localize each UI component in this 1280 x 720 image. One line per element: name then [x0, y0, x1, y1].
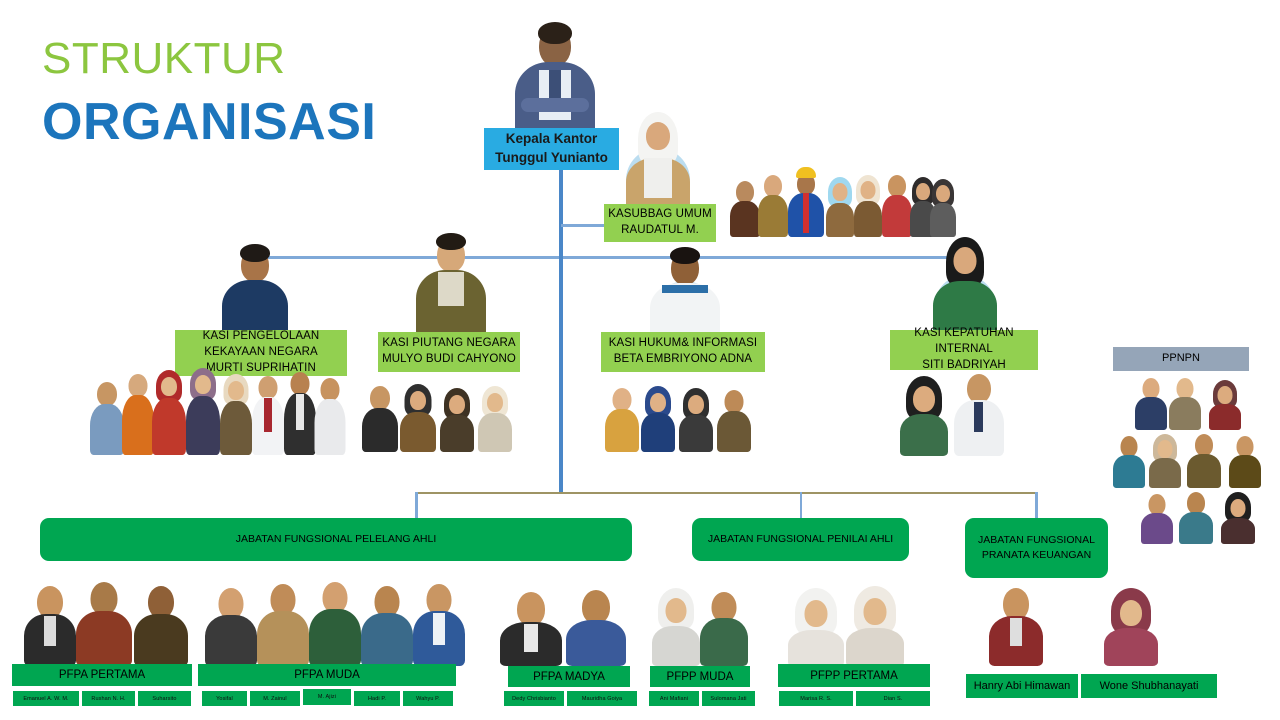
connector-functional-3 — [1035, 492, 1038, 519]
connector-functional-2 — [800, 492, 802, 519]
member-chip[interactable]: Dedy Chrisbianto — [503, 690, 565, 707]
member-name: Dian S. — [884, 696, 903, 702]
member-name: Suharsito — [152, 696, 176, 702]
photo-group-kasubbag-staff — [730, 165, 948, 237]
photo-group-kasi-hukum-staff — [605, 382, 755, 452]
photo-kasubbag-umum — [618, 110, 698, 215]
standalone-0-name: Hanry Abi Himawan — [974, 680, 1071, 692]
member-name: Mauridha Goiya — [582, 696, 622, 702]
group-0-label: PFPA PERTAMA — [59, 669, 145, 681]
standalone-name-hanry[interactable]: Hanry Abi Himawan — [966, 674, 1078, 698]
member-name: Wahyu P. — [416, 696, 440, 702]
standalone-1-name: Wone Shubhanayati — [1100, 680, 1199, 692]
member-chip[interactable]: Rushan N. H. — [81, 690, 136, 707]
group-4-label: PFPP PERTAMA — [810, 670, 898, 682]
group-3-label: PFPP MUDA — [667, 671, 734, 683]
connector-kasi-bus — [255, 256, 965, 259]
org-chart-canvas: STRUKTUR ORGANISASI — [0, 0, 1280, 720]
member-chip[interactable]: Sulomana Jati — [701, 690, 756, 707]
member-name: Emanuel A. W. M. — [23, 696, 68, 702]
group-2-label: PFPA MADYA — [533, 671, 605, 683]
member-chip[interactable]: Hadi P. — [353, 690, 401, 707]
member-chip[interactable]: Mauridha Goiya — [566, 690, 638, 707]
member-name: M. Ajizi — [318, 694, 336, 700]
kasi-3-name: BETA EMBRIYONO ADNA — [614, 352, 752, 368]
photo-group-ppnpn — [1113, 378, 1273, 543]
functional-bar-pelelang-ahli[interactable]: JABATAN FUNGSIONAL PELELANG AHLI — [40, 518, 632, 561]
connector-to-kasubbag — [561, 224, 606, 227]
node-ppnpn[interactable]: PPNPN — [1113, 347, 1249, 371]
functional-bar-pranata-keuangan[interactable]: JABATAN FUNGSIONAL PRANATA KEUANGAN — [965, 518, 1108, 578]
kasubbag-name: RAUDATUL M. — [621, 223, 699, 239]
photo-kasi-hukum — [642, 245, 728, 343]
kasi-2-role: KASI PIUTANG NEGARA — [382, 336, 515, 352]
photo-group-pfpa-madya — [500, 588, 640, 666]
functional-label-3: JABATAN FUNGSIONAL PRANATA KEUANGAN — [973, 533, 1100, 562]
kasi-4-role: KASI KEPATUHAN INTERNAL — [890, 326, 1038, 358]
group-label-pfpa-madya[interactable]: PFPA MADYA — [508, 666, 630, 687]
member-chip[interactable]: Suharsito — [137, 690, 192, 707]
photo-kasi-piutang — [408, 228, 494, 338]
member-chip[interactable]: M. Ajizi — [302, 688, 352, 706]
member-name: Yosifal — [216, 696, 233, 702]
group-label-pfpp-muda[interactable]: PFPP MUDA — [650, 666, 750, 687]
group-label-pfpa-pertama[interactable]: PFPA PERTAMA — [12, 664, 192, 686]
node-kasi-hukum-informasi[interactable]: KASI HUKUM& INFORMASI BETA EMBRIYONO ADN… — [601, 332, 765, 372]
member-name: Dedy Chrisbianto — [512, 696, 556, 702]
photo-kepala-kantor — [505, 18, 605, 138]
member-chip[interactable]: Yosifal — [201, 690, 248, 707]
member-name: Marisa R. S. — [800, 696, 831, 702]
functional-bar-penilai-ahli[interactable]: JABATAN FUNGSIONAL PENILAI AHLI — [692, 518, 909, 561]
kasi-1-role: KASI PENGELOLAAN KEKAYAAN NEGARA — [175, 329, 347, 361]
member-chip[interactable]: M. Zainul — [249, 690, 301, 707]
kasi-2-name: MULYO BUDI CAHYONO — [382, 352, 516, 368]
photo-group-kasi-piutang-staff — [362, 380, 522, 452]
group-label-pfpa-muda[interactable]: PFPA MUDA — [198, 664, 456, 686]
photo-group-kasi-kepatuhan-staff — [900, 368, 1020, 456]
node-kepala-kantor[interactable]: Kepala Kantor Tunggul Yunianto — [484, 128, 619, 170]
member-name: M. Zainul — [263, 696, 287, 702]
member-chip[interactable]: Marisa R. S. — [778, 690, 854, 707]
photo-kasi-pengelolaan — [212, 240, 298, 342]
kasi-3-role: KASI HUKUM& INFORMASI — [609, 336, 757, 352]
kepala-kantor-role: Kepala Kantor — [506, 130, 598, 149]
photo-group-kasi-pengelolaan-staff — [90, 360, 345, 455]
kepala-kantor-name: Tunggul Yunianto — [495, 149, 608, 168]
photo-kasi-kepatuhan — [925, 235, 1005, 340]
standalone-name-wone[interactable]: Wone Shubhanayati — [1081, 674, 1217, 698]
functional-label-1: JABATAN FUNGSIONAL PELELANG AHLI — [236, 532, 437, 547]
photo-group-pfpa-pertama — [18, 580, 198, 666]
connector-functional-trunk — [559, 256, 563, 493]
ppnpn-label: PPNPN — [1162, 351, 1200, 366]
member-chip[interactable]: Dian S. — [855, 690, 931, 707]
page-title-line2: ORGANISASI — [42, 92, 376, 152]
node-kasubbag-umum[interactable]: KASUBBAG UMUM RAUDATUL M. — [604, 204, 716, 242]
functional-label-2: JABATAN FUNGSIONAL PENILAI AHLI — [708, 532, 893, 547]
group-label-pfpp-pertama[interactable]: PFPP PERTAMA — [778, 664, 930, 687]
kasubbag-role: KASUBBAG UMUM — [608, 207, 712, 223]
photo-group-pfpp-muda — [652, 586, 748, 666]
connector-functional-bus — [415, 492, 1037, 494]
photo-standalone-hanry — [985, 588, 1047, 666]
group-1-label: PFPA MUDA — [294, 669, 360, 681]
photo-standalone-wone — [1100, 588, 1162, 666]
member-name: Rushan N. H. — [91, 696, 125, 702]
node-kasi-piutang-negara[interactable]: KASI PIUTANG NEGARA MULYO BUDI CAHYONO — [378, 332, 520, 372]
node-kasi-kepatuhan-internal[interactable]: KASI KEPATUHAN INTERNAL SITI BADRIYAH — [890, 330, 1038, 370]
connector-head-trunk — [559, 168, 563, 258]
member-name: Ani Mafiani — [660, 696, 688, 702]
photo-group-pfpa-muda — [205, 580, 465, 666]
member-chip[interactable]: Emanuel A. W. M. — [12, 690, 80, 707]
page-title-line1: STRUKTUR — [42, 34, 286, 84]
connector-functional-1 — [415, 492, 418, 519]
member-chip[interactable]: Ani Mafiani — [648, 690, 700, 707]
member-name: Hadi P. — [368, 696, 386, 702]
member-name: Sulomana Jati — [710, 696, 746, 702]
photo-group-pfpp-pertama — [788, 584, 906, 666]
member-chip[interactable]: Wahyu P. — [402, 690, 454, 707]
